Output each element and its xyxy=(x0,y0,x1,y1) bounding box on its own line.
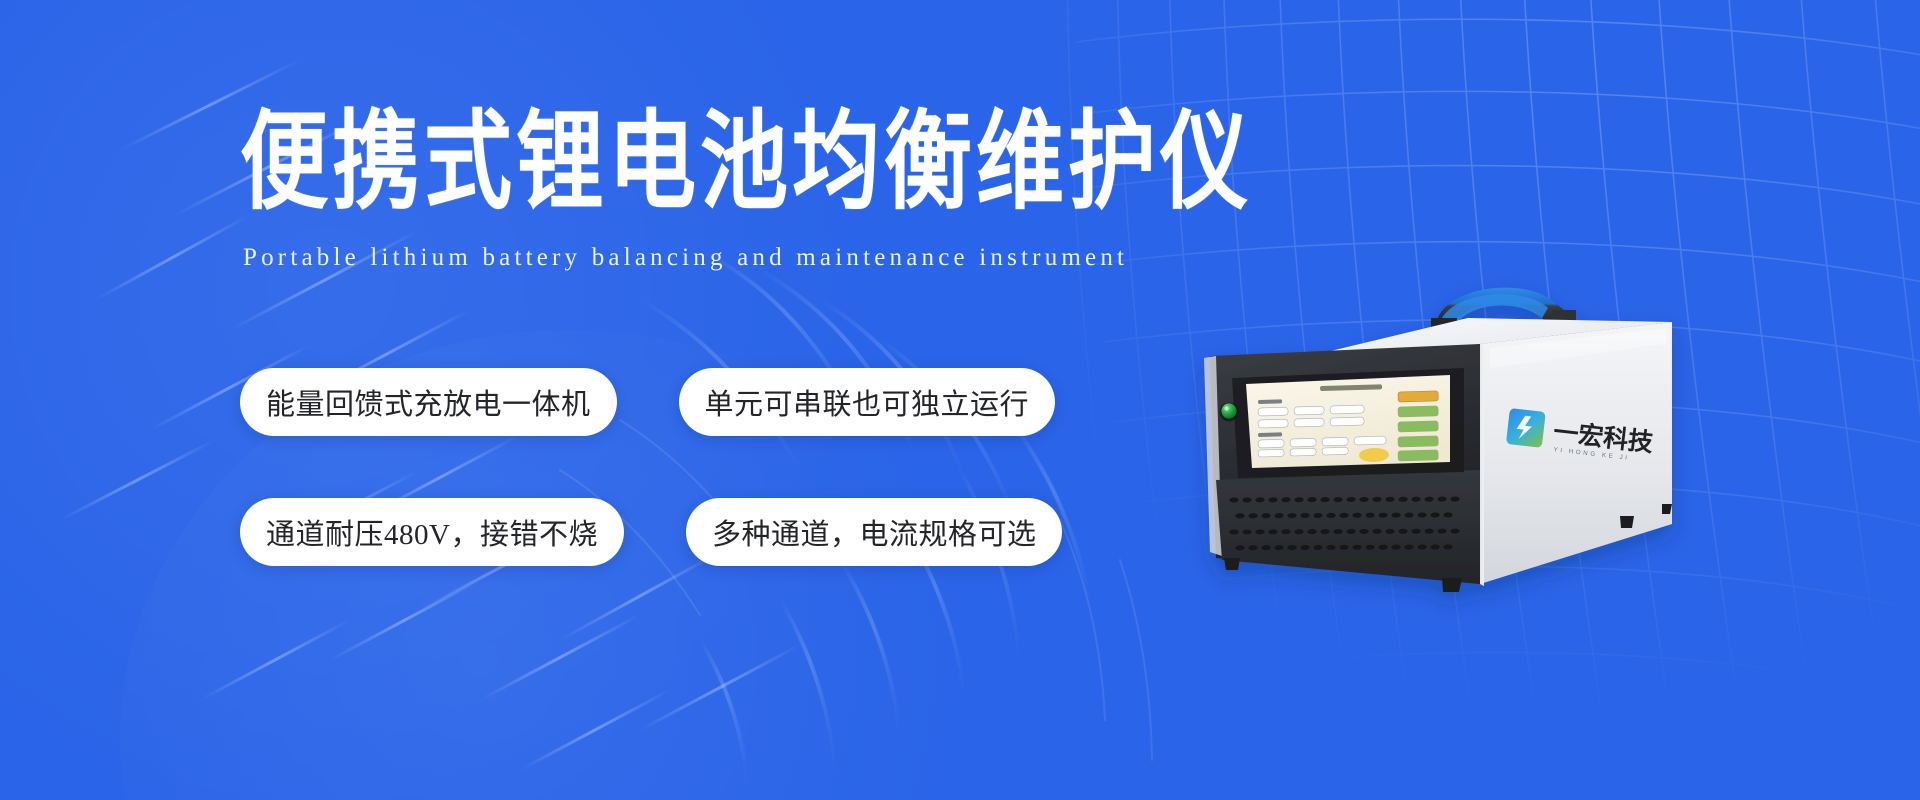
feature-pill[interactable]: 通道耐压480V，接错不烧 xyxy=(240,498,624,566)
feature-pill-row-2: 通道耐压480V，接错不烧 多种通道，电流规格可选 xyxy=(240,498,1160,566)
feature-pill-row-1: 能量回馈式充放电一体机 单元可串联也可独立运行 xyxy=(240,368,1160,436)
power-led-indicator xyxy=(1221,403,1236,418)
device-vent-panel xyxy=(1216,470,1480,584)
feature-pill[interactable]: 单元可串联也可独立运行 xyxy=(679,368,1056,436)
feature-pill[interactable]: 多种通道，电流规格可选 xyxy=(686,498,1063,566)
promo-banner: 便携式锂电池均衡维护仪 Portable lithium battery bal… xyxy=(0,0,1920,800)
page-title: 便携式锂电池均衡维护仪 xyxy=(240,108,1252,215)
product-device-image: 一宏科技 YI HONG KE JI xyxy=(1150,248,1710,638)
page-subtitle: Portable lithium battery balancing and m… xyxy=(243,244,1128,272)
feature-pill-list: 能量回馈式充放电一体机 单元可串联也可独立运行 通道耐压480V，接错不烧 多种… xyxy=(240,368,1160,566)
banner-content: 便携式锂电池均衡维护仪 Portable lithium battery bal… xyxy=(0,0,1160,800)
feature-pill[interactable]: 能量回馈式充放电一体机 xyxy=(240,368,617,436)
